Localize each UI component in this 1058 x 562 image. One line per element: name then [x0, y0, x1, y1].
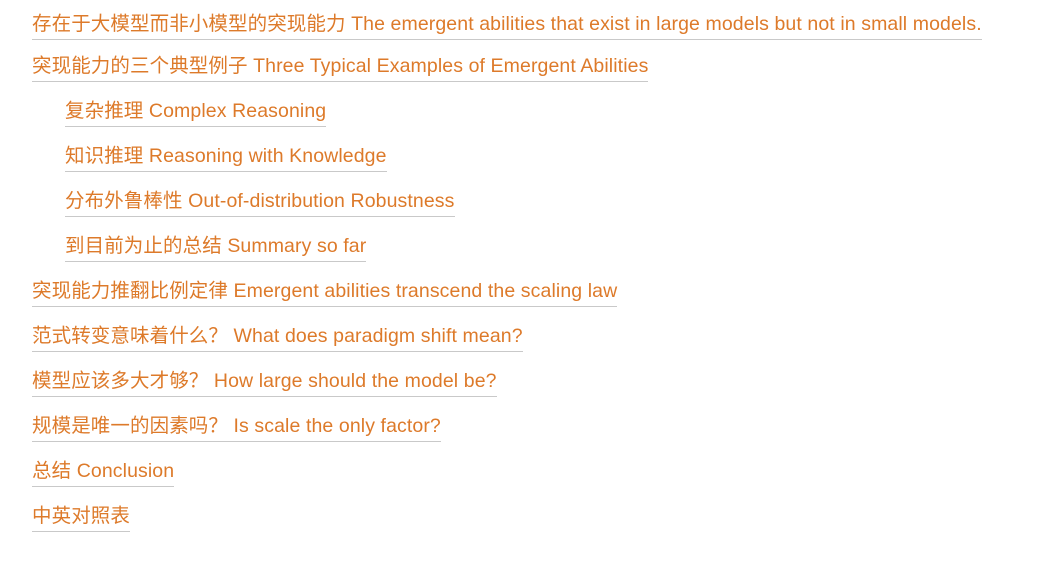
toc-link-three-typical-examples[interactable]: 突现能力的三个典型例子 Three Typical Examples of Em… [32, 53, 648, 82]
toc-link-summary-so-far[interactable]: 到目前为止的总结 Summary so far [65, 233, 366, 262]
toc-row: 范式转变意味着什么？ What does paradigm shift mean… [0, 315, 1058, 360]
table-of-contents: 存在于大模型而非小模型的突现能力 The emergent abilities … [0, 0, 1058, 540]
toc-row: 复杂推理 Complex Reasoning [0, 90, 1058, 135]
toc-row: 突现能力的三个典型例子 Three Typical Examples of Em… [0, 45, 1058, 90]
toc-row: 分布外鲁棒性 Out-of-distribution Robustness [0, 180, 1058, 225]
toc-link-out-of-distribution-robustness[interactable]: 分布外鲁棒性 Out-of-distribution Robustness [65, 188, 455, 217]
toc-row: 知识推理 Reasoning with Knowledge [0, 135, 1058, 180]
toc-link-chinese-english-glossary[interactable]: 中英对照表 [32, 503, 130, 532]
toc-row: 存在于大模型而非小模型的突现能力 The emergent abilities … [0, 0, 1058, 45]
toc-row: 规模是唯一的因素吗？ Is scale the only factor? [0, 405, 1058, 450]
toc-link-is-scale-only-factor[interactable]: 规模是唯一的因素吗？ Is scale the only factor? [32, 413, 441, 442]
toc-row: 到目前为止的总结 Summary so far [0, 225, 1058, 270]
toc-link-reasoning-with-knowledge[interactable]: 知识推理 Reasoning with Knowledge [65, 143, 387, 172]
toc-row: 模型应该多大才够？ How large should the model be? [0, 360, 1058, 405]
toc-row: 突现能力推翻比例定律 Emergent abilities transcend … [0, 270, 1058, 315]
toc-row: 中英对照表 [0, 495, 1058, 540]
toc-row: 总结 Conclusion [0, 450, 1058, 495]
toc-link-conclusion[interactable]: 总结 Conclusion [32, 458, 174, 487]
toc-link-complex-reasoning[interactable]: 复杂推理 Complex Reasoning [65, 98, 326, 127]
toc-link-transcend-scaling-law[interactable]: 突现能力推翻比例定律 Emergent abilities transcend … [32, 278, 617, 307]
toc-link-how-large-should-model-be[interactable]: 模型应该多大才够？ How large should the model be? [32, 368, 497, 397]
toc-link-emergent-abilities-large-not-small[interactable]: 存在于大模型而非小模型的突现能力 The emergent abilities … [32, 11, 982, 40]
toc-link-paradigm-shift-mean[interactable]: 范式转变意味着什么？ What does paradigm shift mean… [32, 323, 523, 352]
